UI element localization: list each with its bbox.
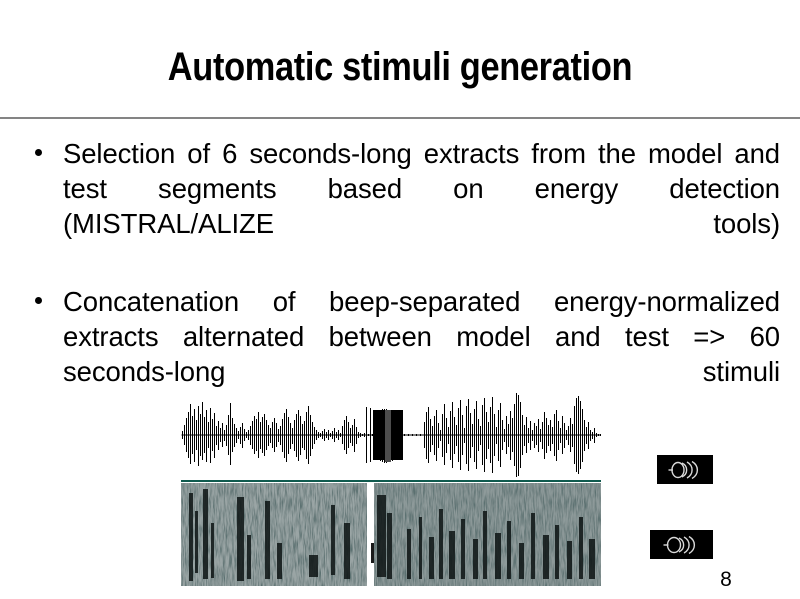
play-stimulus-2-button[interactable] <box>650 530 713 559</box>
slide: Automatic stimuli generation Selection o… <box>0 0 800 599</box>
list-item: Selection of 6 seconds-long extracts fro… <box>24 136 780 276</box>
speaker-icon <box>667 461 703 479</box>
bullet-marker-icon <box>35 149 42 156</box>
audio-figure <box>181 392 601 586</box>
play-stimulus-1-button[interactable] <box>657 455 713 484</box>
page-title: Automatic stimuli generation <box>56 44 744 90</box>
waveform-image <box>181 392 601 478</box>
title-divider <box>0 117 800 119</box>
bullet-list: Selection of 6 seconds-long extracts fro… <box>24 136 780 424</box>
list-item-label: Selection of 6 seconds-long extracts fro… <box>63 136 780 276</box>
spectrogram-image <box>181 483 601 586</box>
spectrogram-top-rule <box>181 480 601 482</box>
bullet-marker-icon <box>35 297 42 304</box>
page-number: 8 <box>700 568 752 592</box>
speaker-icon <box>662 536 702 554</box>
